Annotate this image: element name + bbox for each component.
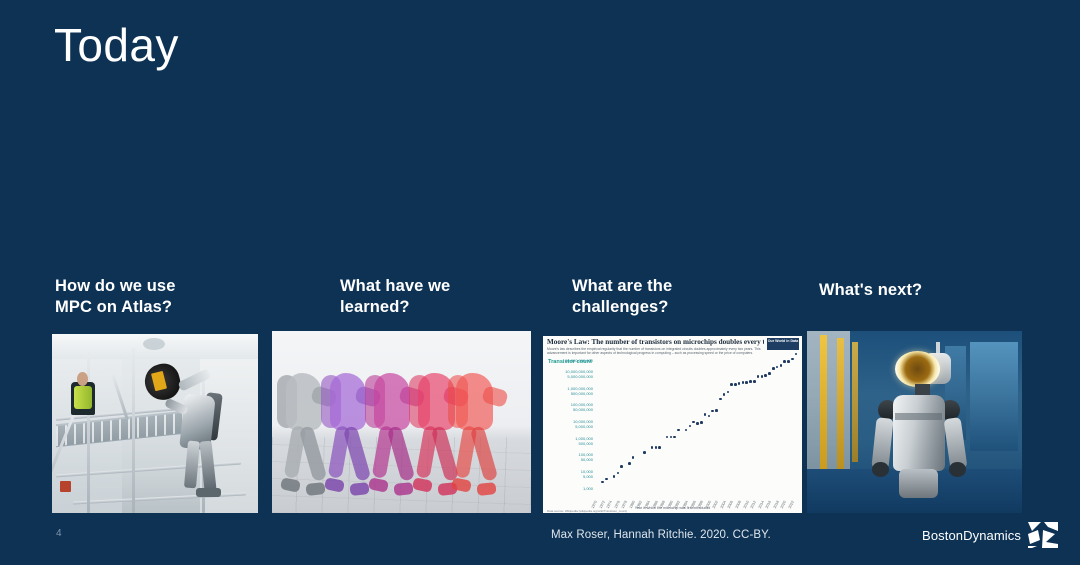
chart-data-point — [768, 372, 771, 375]
yellow-pillar-3 — [852, 342, 858, 462]
robot-foot — [196, 488, 221, 497]
chart-data-point — [764, 374, 767, 377]
boston-dynamics-logo-mark — [1028, 522, 1058, 548]
chart-data-point — [673, 436, 676, 439]
chart-data-point — [632, 456, 635, 459]
chart-data-point — [704, 413, 707, 416]
chart-data-point — [711, 410, 714, 413]
chart-data-point — [745, 381, 748, 384]
chart-data-point — [730, 383, 733, 386]
chart-plot-area: 50,000,000,00010,000,000,0005,000,000,00… — [543, 336, 802, 513]
chart-y-tick: 5,000,000,000 — [545, 374, 593, 379]
chart-y-tick: 50,000,000,000 — [545, 358, 593, 363]
page-title: Today — [54, 16, 179, 74]
boston-dynamics-logo: BostonDynamics — [922, 522, 1058, 548]
chart-attribution-caption: Max Roser, Hannah Ritchie. 2020. CC-BY. — [551, 529, 771, 541]
motion-trajectory-simulation — [272, 331, 531, 513]
chart-data-point — [605, 478, 608, 481]
chart-data-point — [617, 472, 620, 475]
chart-data-point — [696, 422, 699, 425]
yellow-pillar-1 — [820, 335, 827, 473]
chart-data-point — [658, 446, 661, 449]
chart-y-tick: 50,000,000 — [545, 407, 593, 412]
chart-data-point — [783, 360, 786, 363]
chart-data-point — [734, 383, 737, 386]
worker-hi-vis-vest — [74, 386, 93, 409]
wall-panel-left — [807, 331, 850, 473]
worker-head — [77, 372, 88, 386]
chart-data-point — [613, 475, 616, 478]
chart-data-point — [791, 358, 794, 361]
chart-data-point — [772, 367, 775, 370]
chart-data-point — [787, 360, 790, 363]
slide-number: 4 — [56, 528, 62, 539]
chart-source-note: Data source: Wikipedia (wikipedia.org/wi… — [547, 509, 627, 513]
chart-data-point — [692, 421, 695, 424]
torso-band — [895, 413, 942, 420]
robot-torso — [893, 395, 945, 471]
column-heading-1: How do we use MPC on Atlas? — [55, 276, 255, 318]
chart-data-point — [719, 398, 722, 401]
column-heading-2: What have we learned? — [340, 276, 540, 318]
chart-data-point — [795, 353, 798, 356]
chart-data-point — [715, 409, 718, 412]
chart-data-point — [727, 391, 730, 394]
chart-data-point — [723, 393, 726, 396]
column-heading-4: What's next? — [819, 280, 1039, 301]
chart-data-point — [689, 425, 692, 428]
chart-data-point — [666, 436, 669, 439]
chart-data-point — [742, 381, 745, 384]
window-primary — [970, 342, 1017, 451]
chart-data-point — [761, 375, 764, 378]
chart-data-point — [601, 481, 604, 484]
chart-y-tick: 50,000 — [545, 457, 593, 462]
scaffold-rail-vertical-2 — [132, 348, 135, 513]
chart-y-tick: 500,000 — [545, 441, 593, 446]
chart-data-point — [655, 446, 658, 449]
logo-wordmark: BostonDynamics — [922, 528, 1021, 543]
chart-data-point — [757, 375, 760, 378]
robot-pose-ghost-5 — [448, 367, 508, 498]
atlas-scaffolding-photo — [52, 334, 258, 513]
column-heading-3: What are the challenges? — [572, 276, 782, 318]
chart-data-point — [708, 415, 711, 418]
chart-y-tick: 500,000,000 — [545, 391, 593, 396]
chart-data-point — [753, 380, 756, 383]
chart-data-point — [685, 429, 688, 432]
chart-data-point — [620, 465, 623, 468]
chart-data-point — [643, 451, 646, 454]
chart-data-point — [677, 429, 680, 432]
chart-data-point — [738, 382, 741, 385]
chart-data-point — [651, 446, 654, 449]
moores-law-chart: Moore's Law: The number of transistors o… — [543, 336, 802, 513]
elbow-right — [949, 462, 966, 477]
yellow-pillar-2 — [837, 338, 843, 469]
chart-y-tick: 5,000 — [545, 474, 593, 479]
electric-atlas-photo — [807, 331, 1022, 513]
logo-word-boston: Boston — [922, 528, 963, 543]
chart-data-point — [628, 462, 631, 465]
ceiling-vent — [143, 338, 165, 350]
robot-pelvis — [899, 469, 938, 498]
elbow-left — [872, 462, 889, 477]
chart-data-point — [670, 436, 673, 439]
chart-data-point — [780, 364, 783, 367]
chart-y-tick: 5,000,000 — [545, 424, 593, 429]
exit-sign — [60, 481, 70, 492]
chart-data-point — [776, 366, 779, 369]
chart-y-tick: 1,000 — [545, 486, 593, 491]
chart-data-point — [749, 380, 752, 383]
logo-word-dynamics: Dynamics — [963, 528, 1021, 543]
chart-data-point — [700, 421, 703, 424]
